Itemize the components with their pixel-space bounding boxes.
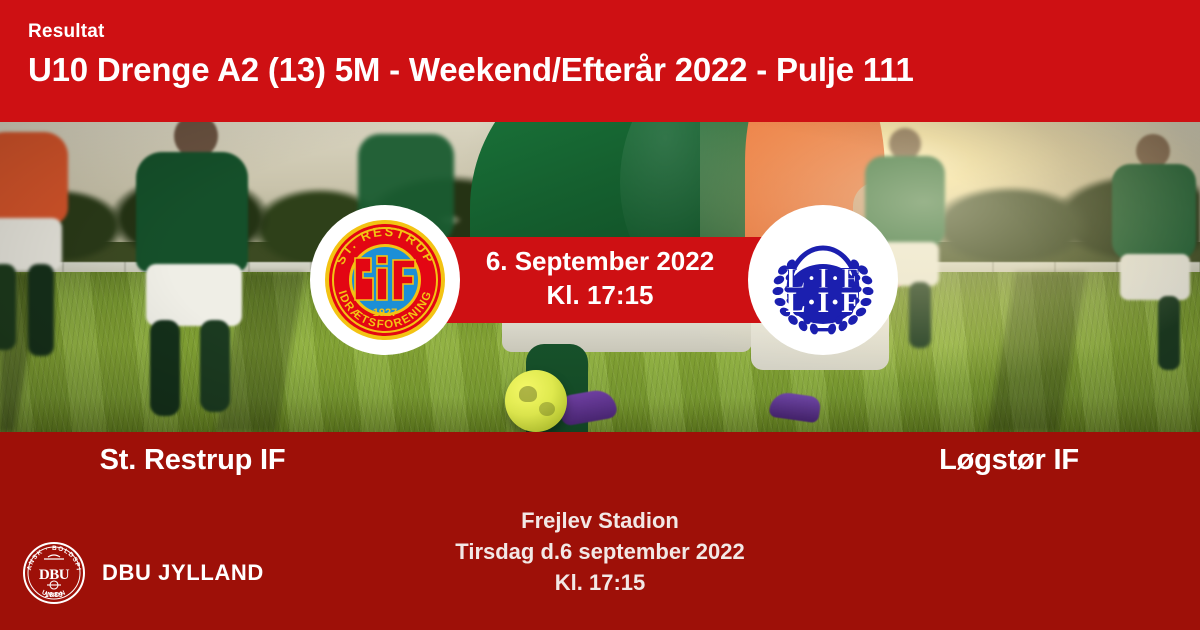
page-title: U10 Drenge A2 (13) 5M - Weekend/Efterår … — [28, 53, 1200, 88]
poster-header: Resultat U10 Drenge A2 (13) 5M - Weekend… — [0, 0, 1200, 122]
match-result-poster: Resultat U10 Drenge A2 (13) 5M - Weekend… — [0, 0, 1200, 630]
logstor-if-crest-icon: L·I·F L·I·F — [759, 216, 887, 344]
player-silhouette-right-green — [1090, 134, 1200, 374]
venue-stadium: Frejlev Stadion — [0, 505, 1200, 536]
home-team-name: St. Restrup IF — [0, 444, 600, 477]
header-kicker: Resultat — [28, 22, 1200, 41]
home-team-crest: ST. RESTRUP IDRÆTSFORENING 1927 — [310, 205, 460, 355]
team-names-row: St. Restrup IF Løgstør IF — [0, 444, 1200, 477]
svg-text:1927: 1927 — [373, 307, 397, 319]
dbu-footer: DANSK · BOLDSPIL UNION DBU 1889 DBU JYLL… — [22, 541, 264, 605]
match-datetime: 6. September 2022 Kl. 17:15 — [418, 244, 782, 313]
dbu-organization-name: DBU JYLLAND — [102, 560, 264, 586]
match-time: Kl. 17:15 — [418, 278, 782, 312]
football-ball — [505, 370, 567, 432]
dbu-logo-icon: DANSK · BOLDSPIL UNION DBU 1889 — [22, 541, 86, 605]
st-restrup-if-crest-icon: ST. RESTRUP IDRÆTSFORENING 1927 — [321, 216, 449, 344]
away-team-crest: L·I·F L·I·F — [748, 205, 898, 355]
svg-text:1889: 1889 — [45, 592, 64, 599]
svg-text:L·I·F: L·I·F — [785, 286, 860, 319]
player-silhouette-left-orange — [0, 132, 96, 382]
away-team-name: Løgstør IF — [600, 444, 1200, 477]
match-date: 6. September 2022 — [418, 244, 782, 278]
player-silhouette-left-green — [100, 122, 275, 414]
